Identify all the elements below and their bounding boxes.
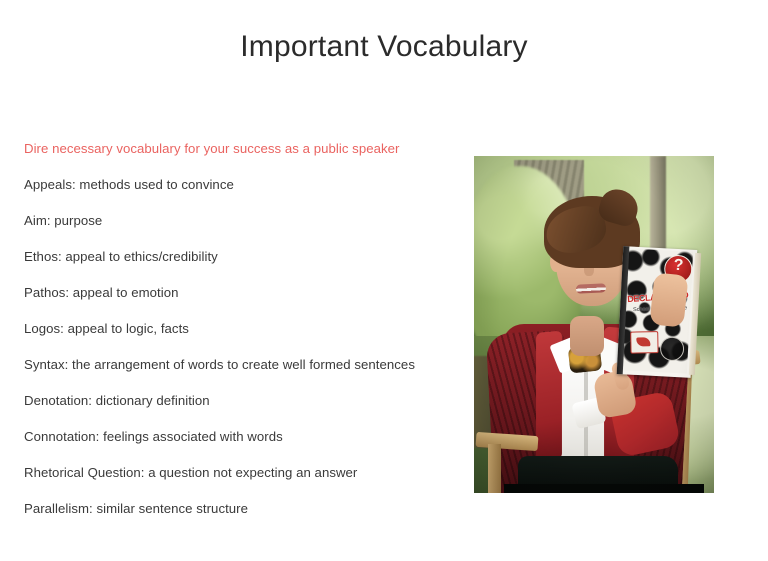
list-item: Pathos: appeal to emotion: [24, 286, 464, 300]
photo-teen-holding-notebook: DECLASSIFIED School Survival Guide: [474, 156, 714, 493]
chair-leg-left: [488, 444, 501, 493]
photo-content: DECLASSIFIED School Survival Guide: [474, 156, 714, 493]
notebook-name-label: [630, 331, 658, 353]
subject-neck: [570, 316, 604, 356]
list-item: Parallelism: similar sentence structure: [24, 502, 464, 516]
list-item: Logos: appeal to logic, facts: [24, 322, 464, 336]
list-item: Aim: purpose: [24, 214, 464, 228]
mouth: [576, 283, 606, 294]
list-item: Ethos: appeal to ethics/credibility: [24, 250, 464, 264]
list-item: Rhetorical Question: a question not expe…: [24, 466, 464, 480]
subject-legs: [504, 484, 704, 493]
list-item: Syntax: the arrangement of words to crea…: [24, 358, 464, 372]
vocabulary-list: Dire necessary vocabulary for your succe…: [24, 142, 464, 516]
hand-holding-notebook: [649, 272, 688, 327]
list-item: Dire necessary vocabulary for your succe…: [24, 142, 464, 156]
page-title: Important Vocabulary: [0, 30, 768, 64]
list-item: Denotation: dictionary definition: [24, 394, 464, 408]
list-item: Connotation: feelings associated with wo…: [24, 430, 464, 444]
slide: Important Vocabulary Dire necessary voca…: [0, 0, 768, 561]
list-item: Appeals: methods used to convince: [24, 178, 464, 192]
